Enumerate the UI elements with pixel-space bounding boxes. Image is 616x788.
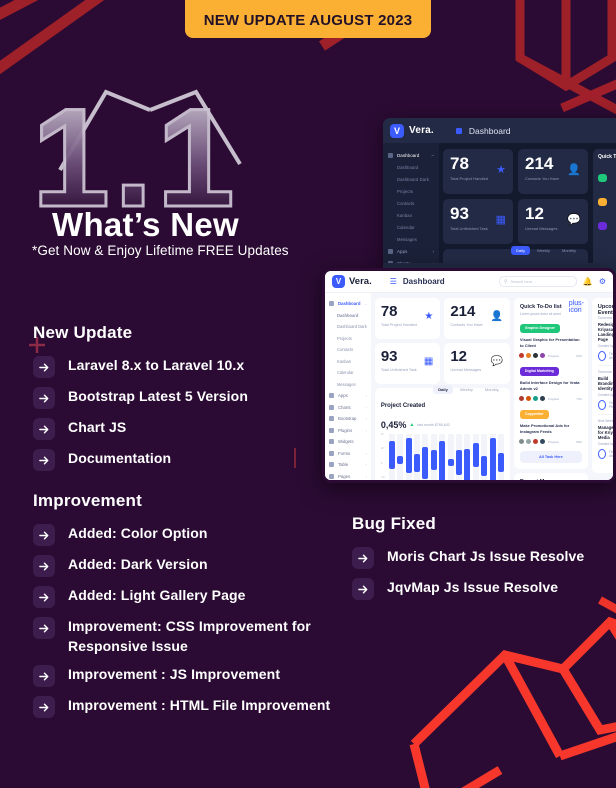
todo-tag: Graphic Designer (520, 324, 560, 333)
todo-text: Visual Graphic for Presentation to Clien… (520, 337, 582, 348)
sidebar-item-label: Widgets (338, 439, 354, 444)
sidebar-subitem[interactable]: Messages (329, 379, 367, 391)
table-icon (329, 462, 334, 467)
todo-column: plus-icon Quick To-Do list Lorem ipsum d… (514, 298, 588, 478)
event-item[interactable]: Tomorrow Redesign Kriyasa Landing Page C… (598, 316, 616, 366)
sidebar-subitem[interactable]: Kanban (329, 356, 367, 368)
tab-weekly[interactable]: Weekly (532, 246, 555, 255)
list-item-label: Chart JS (68, 417, 126, 437)
bar (397, 456, 403, 465)
chevron-right-icon: › (365, 416, 366, 421)
avatar (539, 352, 546, 359)
sidebar-subitem[interactable]: Calendar (329, 367, 367, 379)
section-title-bug-fixed: Bug Fixed (352, 514, 616, 534)
sidebar-item-label: Plugins (338, 428, 352, 433)
trend-up-icon: ▲ (409, 422, 414, 428)
bar (422, 447, 428, 479)
bar-track (406, 434, 412, 483)
bar (448, 459, 454, 466)
list-item-label: Improvement: CSS Improvement for Respons… (68, 616, 363, 656)
sidebar-item-apps[interactable]: Apps › (329, 390, 367, 402)
avatar (518, 352, 525, 359)
bell-icon[interactable]: 🔔 (583, 277, 593, 286)
bar-track (481, 434, 487, 483)
sidebar-subitem[interactable]: Dashboard (388, 161, 434, 173)
sidebar-item-label: Apps (397, 249, 407, 254)
sidebar-item-label: Kanban (337, 359, 351, 364)
sidebar-item-charts[interactable]: Charts › (329, 402, 367, 414)
arrow-right-icon (352, 578, 374, 600)
arrow-right-icon (33, 555, 55, 577)
list-item-label: Improvement : HTML File Improvement (68, 695, 330, 715)
sidebar-item-label: Dashboard (338, 301, 360, 306)
panel-title: Upcoming Events (598, 304, 616, 316)
arrow-right-icon (33, 665, 55, 687)
sidebar-item-apps[interactable]: Apps › (388, 245, 434, 257)
bar-track (490, 434, 496, 483)
list-item[interactable]: JqvMap Js Issue Resolve (352, 577, 616, 600)
bar (498, 453, 504, 472)
avatar (518, 395, 525, 402)
hero-subtitle: *Get Now & Enjoy Lifetime FREE Updates (32, 243, 289, 258)
period-tabs: Daily Weekly Monthly (433, 385, 504, 394)
progress-value: 73% (576, 397, 582, 401)
tab-weekly[interactable]: Weekly (455, 385, 478, 394)
dashboard-dark-screenshot: V Vera. Dashboard Dashboard – Dashboard … (383, 118, 616, 288)
sidebar-item-label: Calendar (337, 370, 354, 375)
todo-avatars-row: Progress 73% (520, 395, 582, 402)
chevron-right-icon: › (365, 393, 366, 398)
stat-card: 93 Total Unfinished Task ▦ (375, 343, 441, 384)
sidebar-item-label: Projects (397, 189, 413, 194)
avatar (539, 438, 546, 445)
sidebar-item-label: Dashboard Dark (397, 177, 429, 182)
event-date: Tomorrow (598, 370, 616, 374)
pages-icon (329, 474, 334, 479)
y-tick-label: -20 (381, 476, 385, 479)
bar-track (448, 434, 454, 483)
stats-and-chart-column: 78 Total Project Handled ★ 214 Contacts … (375, 298, 510, 478)
sidebar-item-dashboard[interactable]: Dashboard – (329, 298, 367, 310)
plus-icon[interactable]: plus-icon (571, 301, 582, 312)
stat-card: 214 Contacts You Have 👤 (518, 149, 588, 194)
top-right-diagonal-stroke (562, 74, 616, 108)
upcoming-events-column: Upcoming Events Tomorrow Redesign Kriyas… (592, 298, 616, 478)
stat-card: 12 Unread Messages 💬 (444, 343, 510, 384)
sidebar-item-pages[interactable]: Pages › (329, 471, 367, 483)
percent-value: 0,45% (381, 420, 407, 430)
tab-daily[interactable]: Daily (511, 246, 530, 255)
search-placeholder: Search here... (511, 279, 536, 284)
top-right-cube-shape (520, 0, 616, 122)
star-icon: ★ (424, 311, 433, 322)
brand-name: Vera. (349, 276, 372, 287)
search-input[interactable]: ⚲ Search here... (499, 276, 577, 287)
avatar (539, 395, 546, 402)
event-title: Build Branding Identity (598, 376, 616, 391)
todo-text: Make Promotional Ads for Instagram Feeds (520, 423, 582, 434)
list-item-label: JqvMap Js Issue Resolve (387, 577, 558, 597)
event-meta: Created by Dimas (598, 442, 616, 446)
sidebar-subitem[interactable]: Contacts (388, 197, 434, 209)
chevron-right-icon: › (365, 462, 366, 467)
light-stat-grid: 78 Total Project Handled ★ 214 Contacts … (375, 298, 510, 384)
todo-item[interactable]: Graphic Designer Visual Graphic for Pres… (520, 316, 582, 359)
list-item[interactable]: Improvement: CSS Improvement for Respons… (33, 616, 363, 656)
brand-logo-icon: V (332, 275, 345, 288)
arrow-right-icon (33, 449, 55, 471)
todo-text (598, 186, 616, 190)
stat-label: Total Project Handled (450, 176, 506, 181)
todo-tag (598, 174, 607, 182)
todo-tag (598, 222, 607, 230)
dashboard-icon (329, 301, 334, 306)
charts-icon (329, 405, 334, 410)
avatar (532, 395, 539, 402)
stat-card: 214 Contacts You Have 👤 (444, 298, 510, 339)
period-tabs: Daily Weekly Monthly (511, 246, 581, 255)
sidebar-item-label: Dashboard (397, 165, 418, 170)
list-item-label: Moris Chart Js Issue Resolve (387, 546, 584, 566)
message-icon: 💬 (490, 356, 502, 367)
plugins-icon (329, 428, 334, 433)
list-item[interactable]: Added: Color Option (33, 523, 363, 546)
stat-label: Total Unfinished Task (381, 368, 435, 372)
stat-label: Unread Messages (450, 368, 504, 372)
dashboard-icon (388, 153, 393, 158)
list-item-label: Added: Light Gallery Page (68, 585, 246, 605)
chevron-down-icon: – (431, 153, 434, 158)
avatar (525, 352, 532, 359)
event-time: Time 09:00 AM (609, 352, 616, 360)
progress-bar: Progress 80% (548, 440, 582, 444)
bar-track (389, 434, 395, 483)
section-new-update: New Update Laravel 8.x to Laravel 10.x B… (33, 323, 333, 479)
badge-label: NEW UPDATE AUGUST 2023 (204, 12, 413, 29)
dark-stat-grid: 78 Total Project Handled ★ 214 Contacts … (443, 149, 588, 244)
hamburger-icon[interactable] (456, 128, 462, 134)
chevron-right-icon: › (365, 405, 366, 410)
section-bug-fixed: Bug Fixed Moris Chart Js Issue Resolve J… (352, 514, 616, 608)
event-meta: Created by Dimas (598, 393, 616, 397)
arrow-right-icon (33, 387, 55, 409)
arrow-right-icon (352, 547, 374, 569)
todo-item[interactable]: Digital Marketing Build Interface Design… (520, 359, 582, 402)
arrow-right-icon (33, 617, 55, 639)
bootstrap-icon (329, 416, 334, 421)
bar-chart-plot: 40200-20-40 (381, 434, 504, 483)
sidebar-item-label: Forms (338, 451, 350, 456)
bar (464, 449, 470, 482)
stat-label: Unread Messages (525, 226, 581, 231)
list-item[interactable]: Documentation (33, 448, 333, 471)
list-item[interactable]: Bootstrap Latest 5 Version (33, 386, 333, 409)
user-icon: 👤 (490, 311, 502, 322)
arrow-right-icon (33, 696, 55, 718)
event-title: Redesign Kriyasa Landing Page (598, 322, 616, 342)
list-item[interactable]: Added: Light Gallery Page (33, 585, 363, 608)
todo-tag (598, 198, 607, 206)
widgets-icon (329, 439, 334, 444)
bar-track (431, 434, 437, 483)
sidebar-subitem[interactable]: Projects (329, 333, 367, 345)
todo-tag: Digital Marketing (520, 367, 559, 376)
section-title-new-update: New Update (33, 323, 333, 343)
sidebar-item-bootstrap[interactable]: Bootstrap › (329, 413, 367, 425)
apps-icon (388, 249, 393, 254)
stat-label: Contacts You Have (450, 323, 504, 327)
bar (406, 438, 412, 473)
sidebar-item-label: Calendar (397, 225, 415, 230)
clock-icon (598, 351, 606, 361)
dark-topbar: V Vera. Dashboard (383, 118, 616, 143)
sidebar-item-label: Table (338, 462, 348, 467)
progress-bar: Progress 64% (548, 354, 582, 358)
todo-avatars-row: Progress 64% (520, 352, 582, 359)
apps-icon (329, 393, 334, 398)
sidebar-item-label: Messages (397, 237, 417, 242)
stat-label: Contacts You Have (525, 176, 581, 181)
event-time: Time 10:00 AM (609, 450, 616, 458)
todo-text: Build Interface Design for Vrata Admin v… (520, 380, 582, 391)
sidebar-item-label: Dashboard Dark (337, 324, 367, 329)
y-axis: 40200-20-40 (381, 434, 389, 483)
sidebar-item-label: Contacts (397, 201, 414, 206)
bar-track (422, 434, 428, 483)
light-body: Dashboard – Dashboard Dashboard Dark Pro… (325, 293, 613, 483)
page-title: What’s New (52, 206, 239, 244)
tab-monthly[interactable]: Monthly (480, 385, 504, 394)
stat-card: 12 Unread Messages 💬 (518, 199, 588, 244)
new-update-badge: NEW UPDATE AUGUST 2023 (185, 0, 431, 38)
settings-icon[interactable]: ⚙ (599, 277, 606, 286)
forms-icon (329, 451, 334, 456)
hamburger-icon[interactable]: ☰ (390, 277, 397, 286)
bar (456, 450, 462, 475)
tab-daily[interactable]: Daily (433, 385, 453, 394)
bar (414, 454, 420, 471)
event-time: Time 01:00 PM (609, 401, 616, 409)
bar-track (498, 434, 504, 483)
sidebar-item-label: Charts (338, 405, 351, 410)
bar (490, 438, 496, 483)
sidebar-subitem[interactable]: Projects (388, 185, 434, 197)
sidebar-item-widgets[interactable]: Widgets (329, 436, 367, 448)
progress-label: Progress (548, 354, 559, 358)
sidebar-item-label: Messages (337, 382, 356, 387)
list-item-label: Added: Color Option (68, 523, 208, 543)
list-item-label: Improvement : JS Improvement (68, 664, 280, 684)
panel-title: Quick To-Do list (598, 154, 616, 160)
light-page-title: Dashboard (403, 277, 445, 286)
sidebar-subitem[interactable]: Messages (388, 233, 434, 245)
sidebar-subitem[interactable]: Contacts (329, 344, 367, 356)
event-title: Manage SEO for Kriyasa Media (598, 425, 616, 440)
sidebar-item-table[interactable]: Table › (329, 459, 367, 471)
stat-label: Total Project Handled (381, 323, 435, 327)
list-item-label: Bootstrap Latest 5 Version (68, 386, 248, 406)
list-item[interactable]: Improvement : JS Improvement (33, 664, 363, 687)
chevron-right-icon: › (365, 428, 366, 433)
list-item[interactable]: Improvement : HTML File Improvement (33, 695, 363, 718)
sidebar-item-forms[interactable]: Forms › (329, 448, 367, 460)
user-icon: 👤 (567, 163, 581, 176)
chevron-right-icon: › (365, 474, 366, 479)
recent-messages-panel: Recent Messages Gleandarodov Lorem ipsum… (514, 473, 588, 483)
list-item[interactable]: Added: Dark Version (33, 554, 363, 577)
progress-bar: Progress 73% (548, 397, 582, 401)
whats-new-slide: NEW UPDATE AUGUST 2023 1.1 What’s New *G… (0, 0, 616, 788)
arrow-right-icon (33, 356, 55, 378)
sidebar-item-label: Pages (338, 474, 350, 479)
bar (481, 456, 487, 476)
sidebar-item-label: Contacts (337, 347, 353, 352)
all-tasks-button[interactable]: All Task Here (520, 451, 582, 463)
list-item-label: Added: Dark Version (68, 554, 208, 574)
chevron-down-icon: – (365, 301, 367, 306)
event-item[interactable]: Next Week Manage SEO for Kriyasa Media C… (598, 419, 616, 463)
panel-subtitle (598, 162, 616, 166)
avatar (525, 438, 532, 445)
sidebar-item-label: Projects (337, 336, 352, 341)
sidebar-item-label: Dashboard (397, 153, 419, 158)
sidebar-item-plugins[interactable]: Plugins › (329, 425, 367, 437)
section-improvement: Improvement Added: Color Option Added: D… (33, 491, 363, 726)
chevron-right-icon: › (365, 451, 366, 456)
todo-text (598, 210, 616, 214)
todo-tag: Copywriter (520, 410, 549, 419)
list-item[interactable]: Chart JS (33, 417, 333, 440)
clock-icon (598, 400, 606, 410)
brand-name: Vera. (409, 125, 434, 136)
bar (431, 450, 437, 470)
bar-track (397, 434, 403, 483)
avatar (518, 438, 525, 445)
grid-icon: ▦ (424, 356, 433, 367)
chevron-right-icon: › (432, 249, 434, 254)
sidebar-subitem[interactable]: Kanban (388, 209, 434, 221)
event-date: Next Week (598, 419, 616, 423)
list-item[interactable]: Laravel 8.x to Laravel 10.x (33, 355, 333, 378)
list-item-label: Documentation (68, 448, 171, 468)
progress-value: 64% (576, 354, 582, 358)
todo-item[interactable]: Copywriter Make Promotional Ads for Inst… (520, 402, 582, 445)
project-created-chart-panel: Project Created Daily Weekly Monthly 0,4… (375, 388, 510, 483)
sidebar-subitem[interactable]: Calendar (388, 221, 434, 233)
bar-track (473, 434, 479, 483)
stat-card: 78 Total Project Handled ★ (375, 298, 441, 339)
y-tick-label: 40 (381, 433, 384, 436)
bar (389, 441, 395, 469)
list-item[interactable]: Moris Chart Js Issue Resolve (352, 546, 616, 569)
grid-icon: ▦ (496, 213, 506, 226)
sidebar-item-label: Dashboard (337, 313, 358, 318)
bar-track (414, 434, 420, 483)
avatar (532, 438, 539, 445)
light-sidebar: Dashboard – Dashboard Dashboard Dark Pro… (325, 293, 371, 483)
event-meta: Created by Dimas (598, 344, 616, 348)
star-icon: ★ (496, 163, 506, 176)
dashboard-light-screenshot: V Vera. ☰ Dashboard ⚲ Search here... 🔔 ⚙… (322, 268, 616, 483)
sidebar-item-label: Bootstrap (338, 416, 356, 421)
sidebar-item-dashboard[interactable]: Dashboard – (388, 149, 434, 161)
light-topbar: V Vera. ☰ Dashboard ⚲ Search here... 🔔 ⚙ (325, 271, 613, 293)
section-title-improvement: Improvement (33, 491, 363, 511)
panel-title: Recent Messages (520, 479, 582, 483)
clock-icon (598, 449, 606, 459)
arrow-right-icon (33, 418, 55, 440)
search-icon: ⚲ (504, 279, 508, 285)
sidebar-item-label: Apps (338, 393, 348, 398)
dark-page-title: Dashboard (469, 126, 511, 136)
y-tick-label: 20 (381, 447, 384, 450)
sidebar-subitem[interactable]: Dashboard (329, 310, 367, 322)
event-item[interactable]: Tomorrow Build Branding Identity Created… (598, 370, 616, 415)
brand-logo-icon: V (390, 124, 404, 138)
sidebar-subitem[interactable]: Dashboard Dark (388, 173, 434, 185)
bar-track (439, 434, 445, 483)
upcoming-events-panel: Upcoming Events Tomorrow Redesign Kriyas… (592, 298, 616, 473)
bar-track (456, 434, 462, 483)
tab-monthly[interactable]: Monthly (557, 246, 581, 255)
chart-title: Project Created (381, 403, 425, 409)
arrow-right-icon (33, 586, 55, 608)
progress-value: 80% (576, 440, 582, 444)
bar (439, 441, 445, 483)
sidebar-item-label: Kanban (397, 213, 412, 218)
light-main: 78 Total Project Handled ★ 214 Contacts … (371, 293, 616, 483)
bar-track (464, 434, 470, 483)
quick-todo-panel: plus-icon Quick To-Do list Lorem ipsum d… (514, 298, 588, 469)
progress-label: Progress (548, 440, 559, 444)
arrow-right-icon (33, 524, 55, 546)
y-tick-label: 0 (381, 462, 382, 465)
chart-percent: 0,45% ▲ last month $765,642 (381, 420, 504, 430)
avatar (525, 395, 532, 402)
stat-card: 93 Total Unfinished Task ▦ (443, 199, 513, 244)
stat-label: Total Unfinished Task (450, 226, 506, 231)
bar (473, 443, 479, 468)
sidebar-subitem[interactable]: Dashboard Dark (329, 321, 367, 333)
percent-note: last month $765,642 (417, 423, 450, 427)
todo-avatars-row: Progress 80% (520, 438, 582, 445)
event-date: Tomorrow (598, 316, 616, 320)
stat-card: 78 Total Project Handled ★ (443, 149, 513, 194)
message-icon: 💬 (567, 213, 581, 226)
bottom-right-cube-shape (414, 622, 616, 788)
avatar (532, 352, 539, 359)
progress-label: Progress (548, 397, 559, 401)
list-item-label: Laravel 8.x to Laravel 10.x (68, 355, 244, 375)
